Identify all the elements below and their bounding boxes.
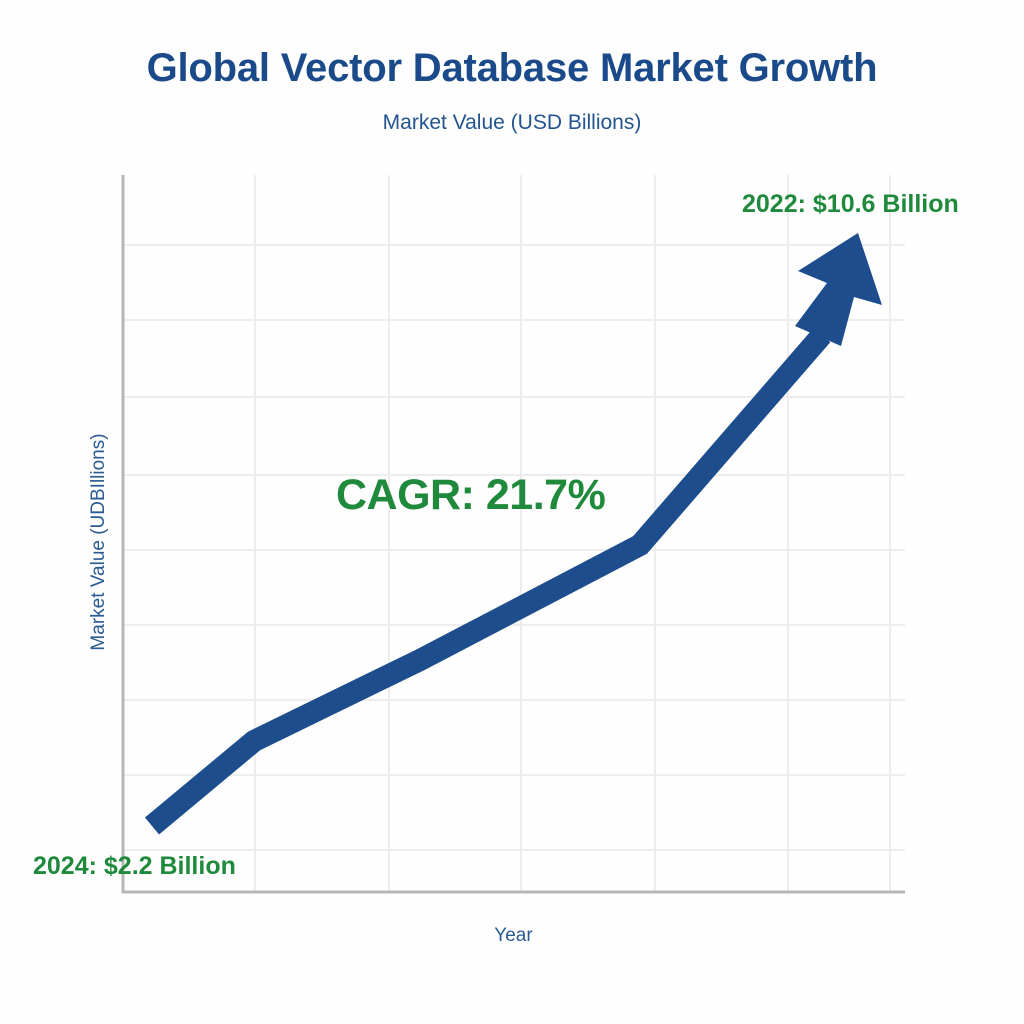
y-axis-label: Market Value (UDBIllions) — [88, 392, 110, 692]
data-series-line — [122, 175, 905, 893]
annotation-cagr: CAGR: 21.7% — [336, 471, 605, 520]
growth-arrow-shape — [152, 233, 882, 826]
annotation-start-value: 2024: $2.2 Billion — [33, 852, 236, 881]
plot-area: CAGR: 21.7% — [122, 175, 905, 893]
chart-subtitle: Market Value (USD Billions) — [0, 111, 1024, 135]
chart-title: Global Vector Database Market Growth — [0, 46, 1024, 91]
x-axis-label: Year — [122, 925, 905, 947]
chart-canvas: Global Vector Database Market Growth Mar… — [0, 0, 1024, 1024]
annotation-end-value: 2022: $10.6 Billion — [742, 190, 959, 219]
